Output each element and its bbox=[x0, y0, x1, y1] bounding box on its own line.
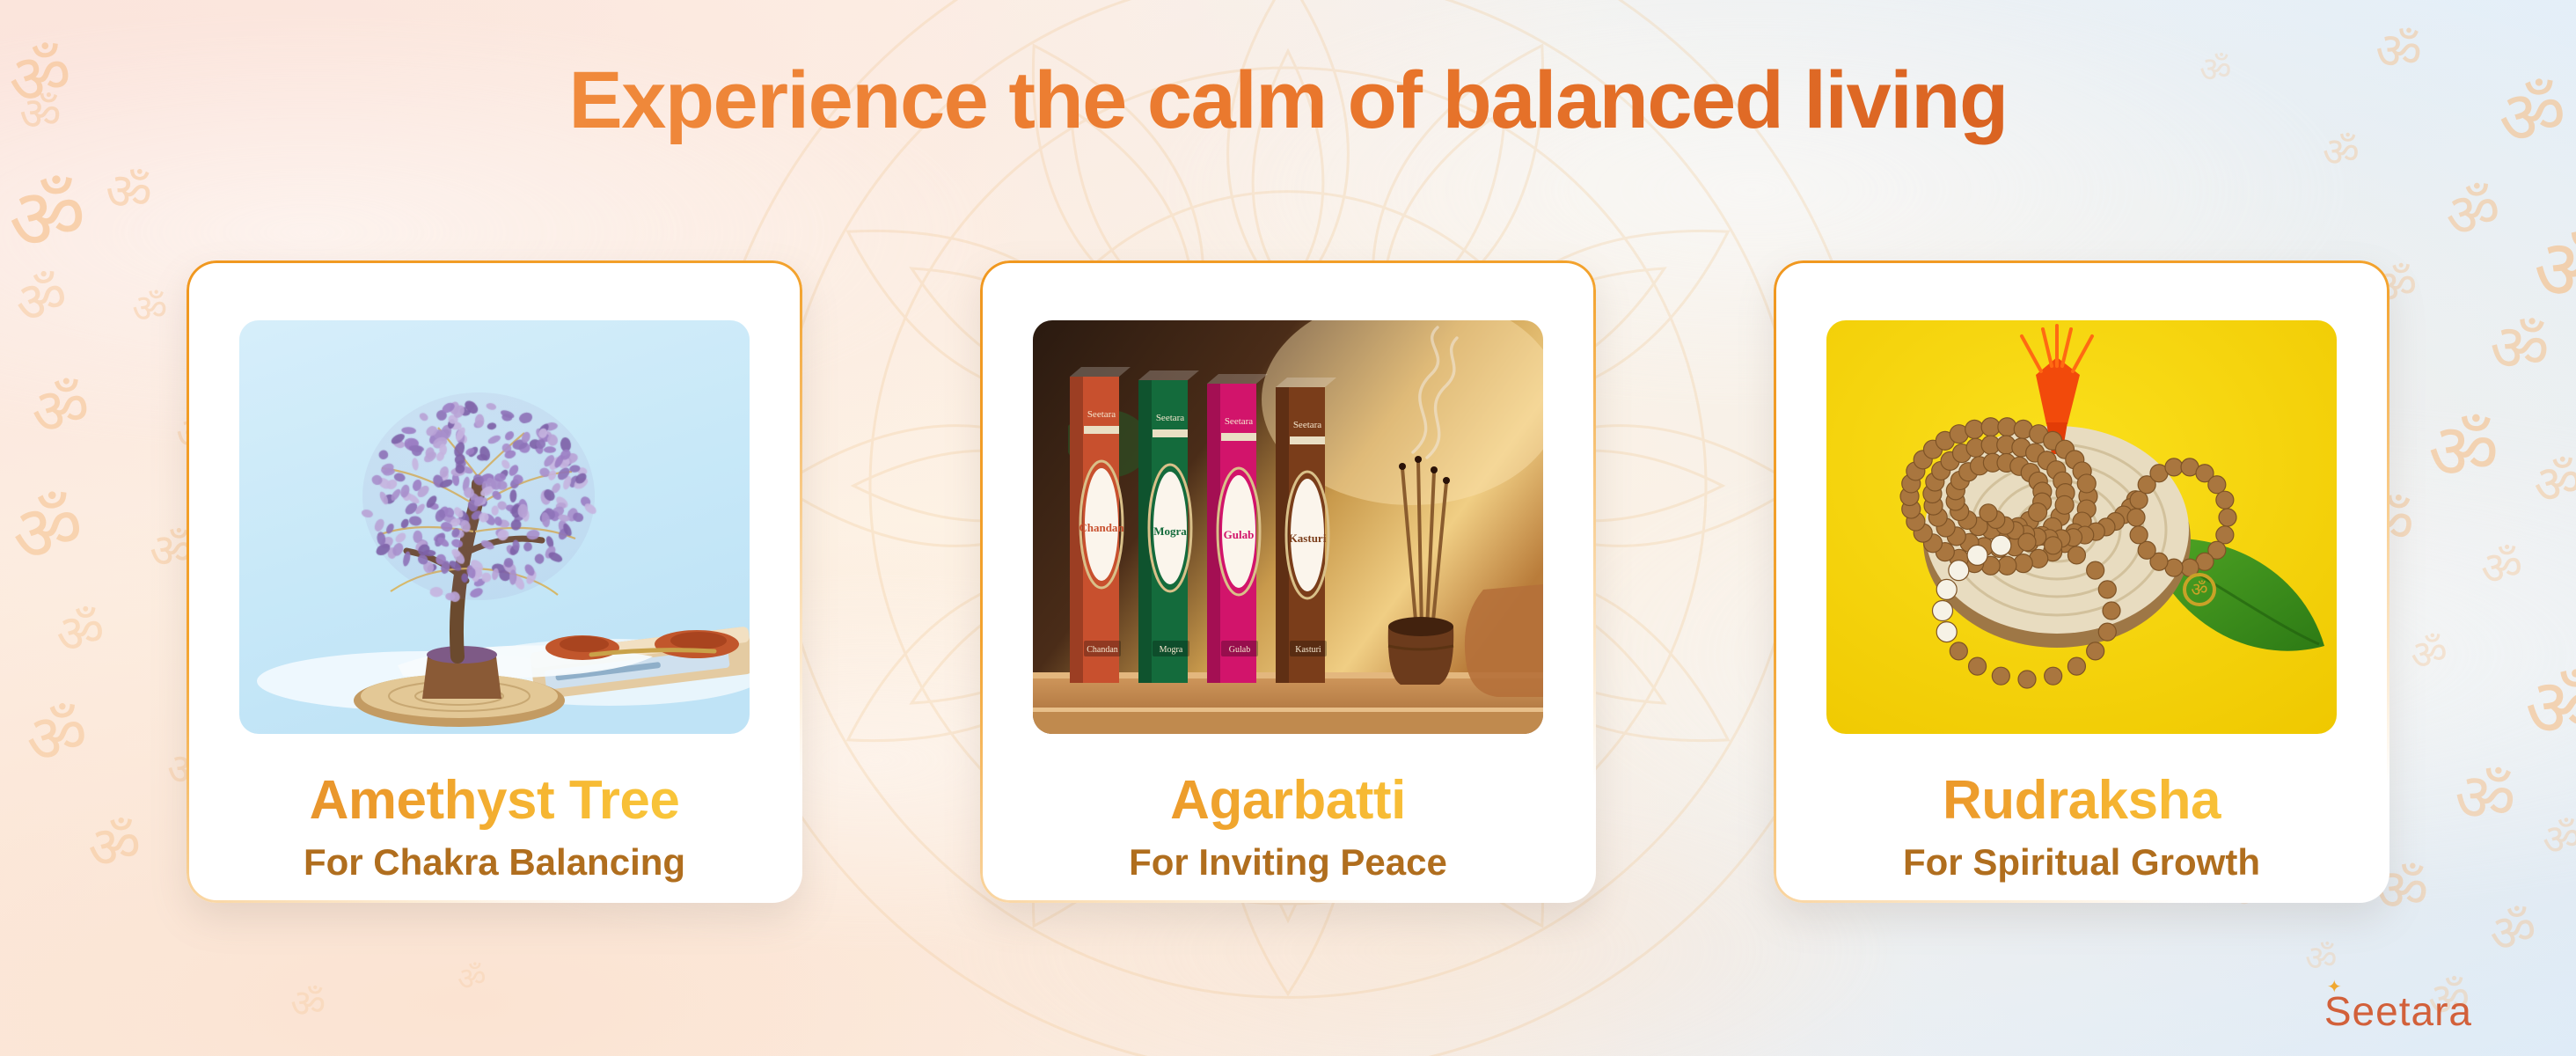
product-card-amethyst-tree[interactable]: Amethyst Tree For Chakra Balancing bbox=[187, 260, 802, 903]
om-symbol-icon: ॐ bbox=[2480, 545, 2524, 592]
svg-text:Seetara: Seetara bbox=[1293, 420, 1321, 430]
card-subtitle: For Chakra Balancing bbox=[187, 841, 802, 884]
svg-text:Seetara: Seetara bbox=[1156, 413, 1184, 423]
om-symbol-icon: ॐ bbox=[2303, 940, 2338, 978]
product-card-rudraksha[interactable]: ॐ Rudraksha For Spiritual Growth bbox=[1774, 260, 2389, 903]
svg-text:ॐ: ॐ bbox=[2191, 579, 2207, 600]
om-symbol-icon: ॐ bbox=[2530, 225, 2576, 316]
svg-text:Kasturi: Kasturi bbox=[1295, 645, 1321, 655]
om-symbol-icon: ॐ bbox=[2531, 455, 2576, 512]
logo-text-wrap: Seetara ✦ bbox=[2324, 988, 2472, 1034]
logo-text: Seetara bbox=[2324, 988, 2472, 1034]
om-symbol-icon: ॐ bbox=[2486, 313, 2553, 385]
product-card-agarbatti[interactable]: SeetaraChandanChandanSeetaraMograMograSe… bbox=[980, 260, 1596, 903]
product-image-rudraksha: ॐ bbox=[1826, 320, 2337, 734]
om-symbol-icon: ॐ bbox=[11, 268, 72, 334]
card-title: Rudraksha bbox=[1774, 769, 2389, 832]
om-symbol-icon: ॐ bbox=[86, 817, 143, 877]
om-symbol-icon: ॐ bbox=[2441, 181, 2505, 249]
om-symbol-icon: ॐ bbox=[54, 605, 106, 663]
om-symbol-icon: ॐ bbox=[101, 164, 156, 222]
om-symbol-icon: ॐ bbox=[2541, 818, 2576, 862]
svg-text:Chandan: Chandan bbox=[1087, 645, 1118, 655]
product-image-agarbatti: SeetaraChandanChandanSeetaraMograMograSe… bbox=[1033, 320, 1543, 734]
svg-text:Mogra: Mogra bbox=[1153, 524, 1187, 538]
card-subtitle: For Spiritual Growth bbox=[1774, 841, 2389, 884]
svg-text:Gulab: Gulab bbox=[1229, 645, 1250, 655]
card-title: Agarbatti bbox=[980, 769, 1596, 832]
svg-text:Gulab: Gulab bbox=[1224, 528, 1255, 541]
card-title: Amethyst Tree bbox=[187, 769, 802, 832]
svg-text:Mogra: Mogra bbox=[1160, 645, 1183, 655]
om-symbol-icon: ॐ bbox=[456, 963, 487, 997]
card-subtitle: For Inviting Peace bbox=[980, 841, 1596, 884]
om-symbol-icon: ॐ bbox=[6, 173, 89, 263]
svg-text:Seetara: Seetara bbox=[1087, 409, 1116, 420]
product-image-amethyst-tree bbox=[239, 320, 750, 734]
page-title: Experience the calm of balanced living bbox=[0, 55, 2576, 147]
svg-text:Kasturi: Kasturi bbox=[1289, 532, 1327, 545]
svg-text:Seetara: Seetara bbox=[1225, 416, 1253, 427]
om-symbol-icon: ॐ bbox=[2408, 632, 2449, 677]
product-card-row: Amethyst Tree For Chakra Balancing bbox=[187, 260, 2389, 903]
brand-logo[interactable]: Seetara ✦ bbox=[2324, 987, 2472, 1035]
om-symbol-icon: ॐ bbox=[2450, 762, 2520, 837]
om-symbol-icon: ॐ bbox=[28, 376, 92, 444]
om-symbol-icon: ॐ bbox=[131, 290, 169, 331]
om-symbol-icon: ॐ bbox=[2426, 412, 2501, 493]
om-symbol-icon: ॐ bbox=[289, 984, 328, 1026]
om-symbol-icon: ॐ bbox=[23, 700, 91, 774]
om-symbol-icon: ॐ bbox=[2486, 904, 2539, 961]
sparkle-icon: ✦ bbox=[2327, 976, 2343, 998]
om-symbol-icon: ॐ bbox=[6, 488, 89, 576]
om-symbol-icon: ॐ bbox=[2522, 666, 2576, 752]
svg-text:Chandan: Chandan bbox=[1079, 521, 1124, 534]
